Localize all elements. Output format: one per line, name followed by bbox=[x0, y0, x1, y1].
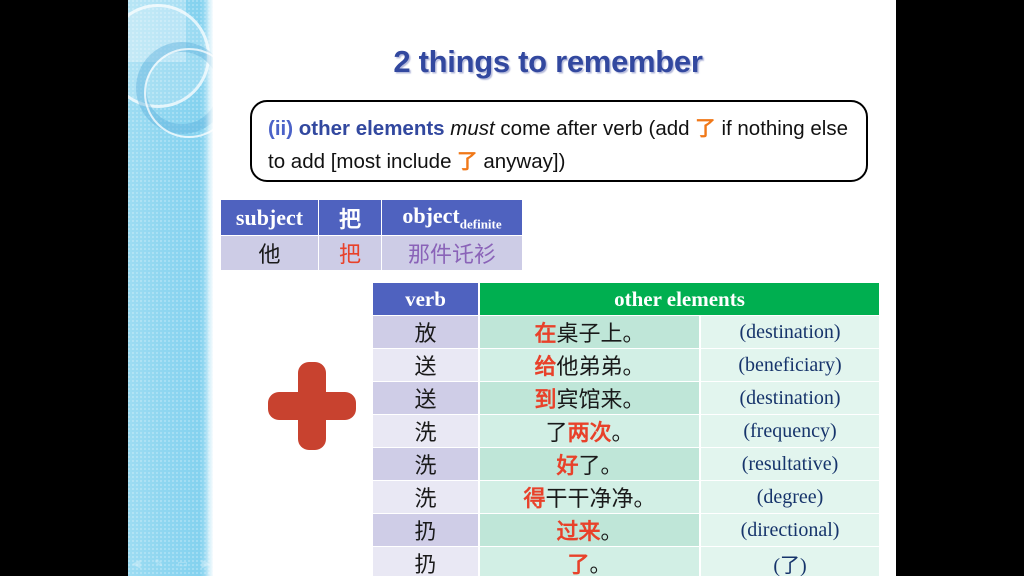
cell-note: (beneficiary) bbox=[700, 349, 879, 382]
cell-note: (frequency) bbox=[700, 415, 879, 448]
plain-element: 干干净净。 bbox=[546, 486, 656, 511]
table-row: 送到宾馆来。(destination) bbox=[373, 382, 879, 415]
cell-other-element: 好了。 bbox=[479, 448, 700, 481]
plus-icon bbox=[268, 362, 356, 450]
page-title: 2 things to remember bbox=[228, 44, 868, 80]
plain-element: 宾馆来。 bbox=[557, 387, 645, 412]
cell-other-element: 过来。 bbox=[479, 514, 700, 547]
highlighted-element: 在 bbox=[534, 321, 556, 346]
plain-element-tail: 。 bbox=[612, 420, 634, 445]
callout-marker: (ii) bbox=[268, 117, 293, 140]
cell-other-element: 得干干净净。 bbox=[479, 481, 700, 514]
table-row: 扔了。(了) bbox=[373, 547, 879, 576]
header-subject: subject bbox=[221, 200, 319, 236]
decorative-left-band: ◀ ✎ ▭ ▶ bbox=[128, 0, 213, 576]
cell-note: (degree) bbox=[700, 481, 879, 514]
table-row: 扔过来。(directional) bbox=[373, 514, 879, 547]
header-other-elements: other elements bbox=[479, 283, 879, 316]
plain-element: 了 bbox=[545, 420, 567, 445]
verb-rows-container: 放在桌子上。(destination)送给他弟弟。(beneficiary)送到… bbox=[373, 316, 879, 576]
cell-verb: 洗 bbox=[373, 481, 479, 514]
plain-element: 了。 bbox=[579, 453, 623, 478]
slide-root: ◀ ✎ ▭ ▶ 2 things to remember (ii) other … bbox=[0, 0, 1024, 576]
highlighted-element: 两次 bbox=[567, 420, 611, 445]
callout-emphasis: other elements bbox=[299, 117, 445, 140]
callout-text-a: come after verb (add bbox=[495, 117, 696, 140]
plain-element: 他弟弟。 bbox=[557, 354, 645, 379]
callout-italic: must bbox=[450, 117, 494, 140]
cell-verb: 洗 bbox=[373, 415, 479, 448]
table-row: 洗得干干净净。(degree) bbox=[373, 481, 879, 514]
cell-note: (directional) bbox=[700, 514, 879, 547]
verb-table: verb other elements 放在桌子上。(destination)送… bbox=[373, 283, 879, 576]
highlighted-element: 得 bbox=[523, 486, 545, 511]
cell-verb: 送 bbox=[373, 349, 479, 382]
next-slide-icon[interactable]: ▶ bbox=[202, 558, 210, 570]
table-row: 洗了两次。(frequency) bbox=[373, 415, 879, 448]
subject-table: subject 把 objectdefinite 他 把 那件讬衫 bbox=[221, 200, 522, 270]
cell-other-element: 了。 bbox=[479, 547, 700, 576]
slide-canvas: ◀ ✎ ▭ ▶ 2 things to remember (ii) other … bbox=[128, 0, 896, 576]
plain-element: 。 bbox=[601, 519, 623, 544]
verb-table-body: verb other elements bbox=[373, 283, 879, 316]
table-row: 他 把 那件讬衫 bbox=[221, 236, 522, 271]
highlighted-element: 给 bbox=[534, 354, 556, 379]
table-row: 洗好了。(resultative) bbox=[373, 448, 879, 481]
table-row: 放在桌子上。(destination) bbox=[373, 316, 879, 349]
plain-element: 。 bbox=[590, 552, 612, 576]
presentation-nav-controls[interactable]: ◀ ✎ ▭ ▶ bbox=[132, 558, 210, 570]
cell-other-element: 到宾馆来。 bbox=[479, 382, 700, 415]
header-object-subscript: definite bbox=[460, 216, 502, 231]
pen-icon[interactable]: ✎ bbox=[154, 558, 163, 570]
slide-menu-icon[interactable]: ▭ bbox=[177, 558, 187, 570]
highlighted-element: 过来 bbox=[556, 519, 600, 544]
verb-table-header-row: verb other elements bbox=[373, 283, 879, 316]
header-object: objectdefinite bbox=[382, 200, 523, 236]
cell-other-element: 在桌子上。 bbox=[479, 316, 700, 349]
cell-verb: 洗 bbox=[373, 448, 479, 481]
plus-vertical-bar bbox=[298, 362, 326, 450]
cell-verb: 扔 bbox=[373, 514, 479, 547]
cell-note: (了) bbox=[700, 547, 879, 576]
cell-note: (destination) bbox=[700, 382, 879, 415]
highlighted-element: 好 bbox=[556, 453, 578, 478]
cell-other-element: 给他弟弟。 bbox=[479, 349, 700, 382]
header-object-label: object bbox=[402, 203, 459, 228]
cell-verb: 扔 bbox=[373, 547, 479, 576]
highlighted-element: 了 bbox=[567, 552, 589, 576]
cell-verb: 送 bbox=[373, 382, 479, 415]
header-ba: 把 bbox=[319, 200, 382, 236]
cell-other-element: 了两次。 bbox=[479, 415, 700, 448]
callout-particle-le-2: 了 bbox=[457, 150, 478, 173]
cell-verb: 放 bbox=[373, 316, 479, 349]
previous-slide-icon[interactable]: ◀ bbox=[132, 558, 140, 570]
band-edge-highlight bbox=[205, 0, 213, 576]
callout-box: (ii) other elements must come after verb… bbox=[250, 100, 868, 182]
cell-note: (destination) bbox=[700, 316, 879, 349]
cell-object: 那件讬衫 bbox=[382, 236, 523, 271]
highlighted-element: 到 bbox=[534, 387, 556, 412]
callout-text-c: anyway]) bbox=[478, 150, 566, 173]
cell-note: (resultative) bbox=[700, 448, 879, 481]
plain-element: 桌子上。 bbox=[557, 321, 645, 346]
callout-particle-le-1: 了 bbox=[695, 117, 716, 140]
cell-ba: 把 bbox=[319, 236, 382, 271]
table-row: 送给他弟弟。(beneficiary) bbox=[373, 349, 879, 382]
cell-subject: 他 bbox=[221, 236, 319, 271]
table-header-row: subject 把 objectdefinite bbox=[221, 200, 522, 236]
header-verb: verb bbox=[373, 283, 479, 316]
